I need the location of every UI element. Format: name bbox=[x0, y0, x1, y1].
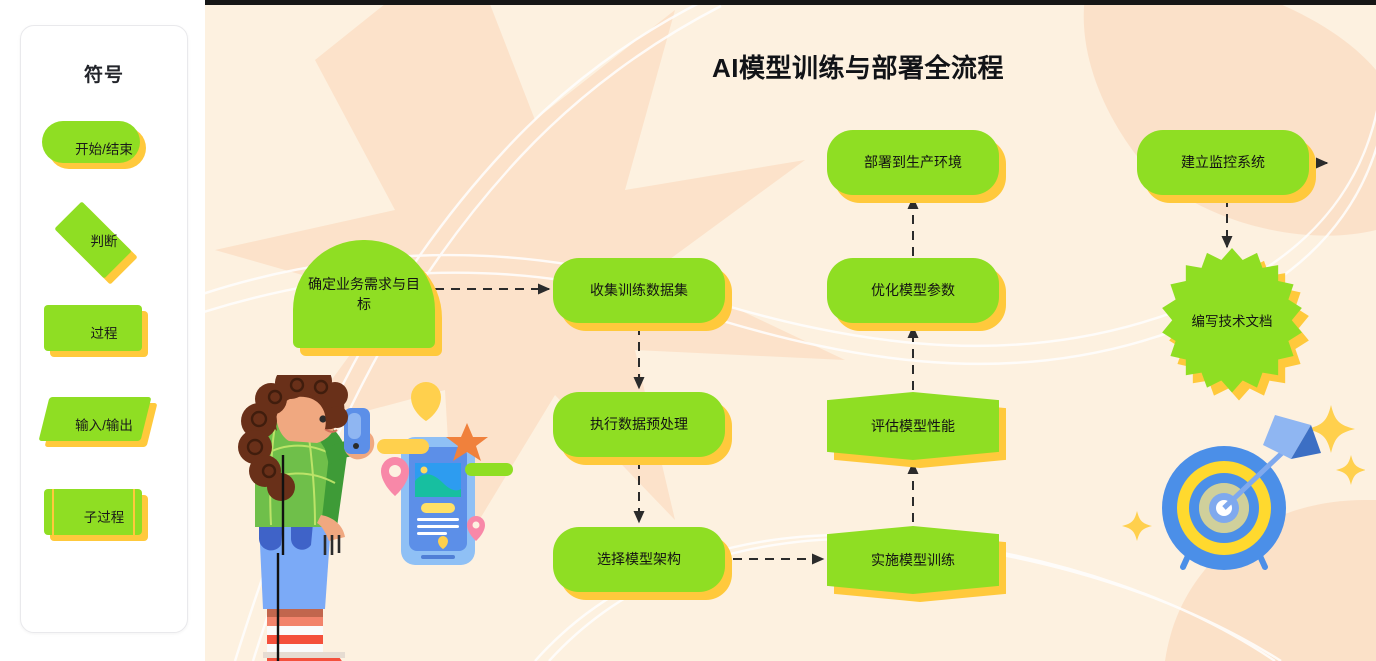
legend-item-label: 过程 bbox=[91, 322, 118, 342]
flow-node-write-technical-documentation[interactable]: 编写技术文档 bbox=[1158, 248, 1306, 396]
legend-item-label: 子过程 bbox=[84, 506, 125, 526]
flow-node-establish-monitoring-system[interactable]: 建立监控系统 bbox=[1137, 130, 1309, 195]
legend-item-label: 开始/结束 bbox=[75, 138, 133, 158]
legend-title: 符号 bbox=[84, 60, 124, 87]
flow-node-deploy-to-production[interactable]: 部署到生产环境 bbox=[827, 130, 999, 195]
legend-item-decision[interactable]: 判断 bbox=[36, 209, 172, 271]
legend-item-input-output[interactable]: 输入/输出 bbox=[36, 393, 172, 455]
flowchart-canvas: AI模型训练与部署全流程 确定业务需求与目标 收集训练数据集 bbox=[205, 0, 1376, 661]
flow-node-label: 部署到生产环境 bbox=[827, 130, 999, 195]
legend-item-label: 判断 bbox=[91, 230, 118, 250]
legend-item-subprocess[interactable]: 子过程 bbox=[36, 485, 172, 547]
flow-node-label: 选择模型架构 bbox=[553, 527, 725, 592]
flow-node-label: 评估模型性能 bbox=[827, 392, 999, 460]
flow-node-define-business-requirements[interactable]: 确定业务需求与目标 bbox=[293, 240, 435, 348]
flow-node-label: 执行数据预处理 bbox=[553, 392, 725, 457]
flow-nodes: 确定业务需求与目标 收集训练数据集 执行数据预处理 选择模型架构 实施模型训练 … bbox=[205, 0, 1376, 661]
legend-panel: 符号 开始/结束 判断 过程 输入/输出 子过程 bbox=[20, 25, 188, 633]
flow-node-optimize-model-parameters[interactable]: 优化模型参数 bbox=[827, 258, 999, 323]
flow-node-label: 建立监控系统 bbox=[1137, 130, 1309, 195]
flow-node-label: 实施模型训练 bbox=[827, 526, 999, 594]
legend-item-label: 输入/输出 bbox=[75, 414, 133, 434]
flow-node-evaluate-model-performance[interactable]: 评估模型性能 bbox=[827, 392, 999, 460]
canvas-top-bar bbox=[205, 0, 1376, 5]
flow-node-label: 收集训练数据集 bbox=[553, 258, 725, 323]
flow-node-label: 确定业务需求与目标 bbox=[293, 240, 435, 348]
flow-node-collect-training-dataset[interactable]: 收集训练数据集 bbox=[553, 258, 725, 323]
flow-node-select-model-architecture[interactable]: 选择模型架构 bbox=[553, 527, 725, 592]
legend-item-start-end[interactable]: 开始/结束 bbox=[36, 117, 172, 179]
legend-item-process[interactable]: 过程 bbox=[36, 301, 172, 363]
flow-node-label: 编写技术文档 bbox=[1158, 248, 1306, 396]
flow-node-data-preprocessing[interactable]: 执行数据预处理 bbox=[553, 392, 725, 457]
flow-node-label: 优化模型参数 bbox=[827, 258, 999, 323]
flow-node-implement-model-training[interactable]: 实施模型训练 bbox=[827, 526, 999, 594]
